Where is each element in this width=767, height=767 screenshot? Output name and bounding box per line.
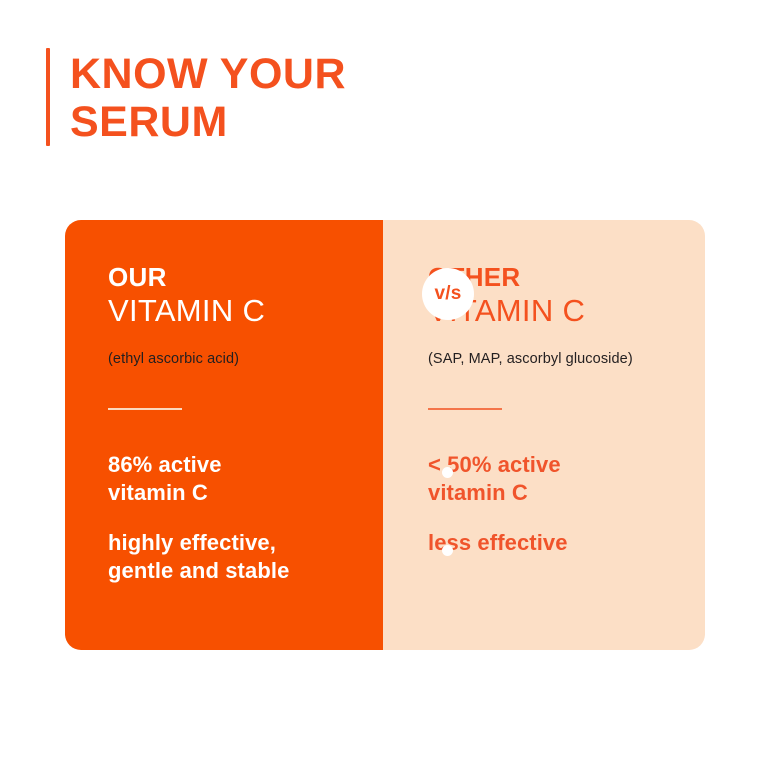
other-panel-feature-list: < 50% active vitamin C less effective [428,451,705,557]
our-panel-inci: (ethyl ascorbic acid) [108,351,383,367]
other-panel-rule [428,408,502,410]
divider-dot-icon [442,545,453,556]
page-heading: KNOW YOUR SERUM [46,48,346,146]
page-title: KNOW YOUR SERUM [70,48,346,146]
our-panel-rule [108,408,182,410]
our-product-panel: OUR VITAMIN C (ethyl ascorbic acid) 86% … [65,220,383,650]
our-panel-feature: 86% active vitamin C [108,451,383,506]
other-panel-inci: (SAP, MAP, ascorbyl glucoside) [428,351,705,367]
divider-dot-icon [442,467,453,478]
other-panel-feature: < 50% active vitamin C [428,451,705,506]
comparison-card: OUR VITAMIN C (ethyl ascorbic acid) 86% … [65,220,705,650]
our-panel-feature-list: 86% active vitamin C highly effective, g… [108,451,383,585]
our-panel-product: VITAMIN C [108,293,383,329]
heading-accent-bar [46,48,50,146]
versus-badge: v/s [422,268,474,320]
other-panel-feature: less effective [428,529,705,557]
our-panel-feature: highly effective, gentle and stable [108,529,383,584]
our-panel-kicker: OUR [108,264,383,291]
